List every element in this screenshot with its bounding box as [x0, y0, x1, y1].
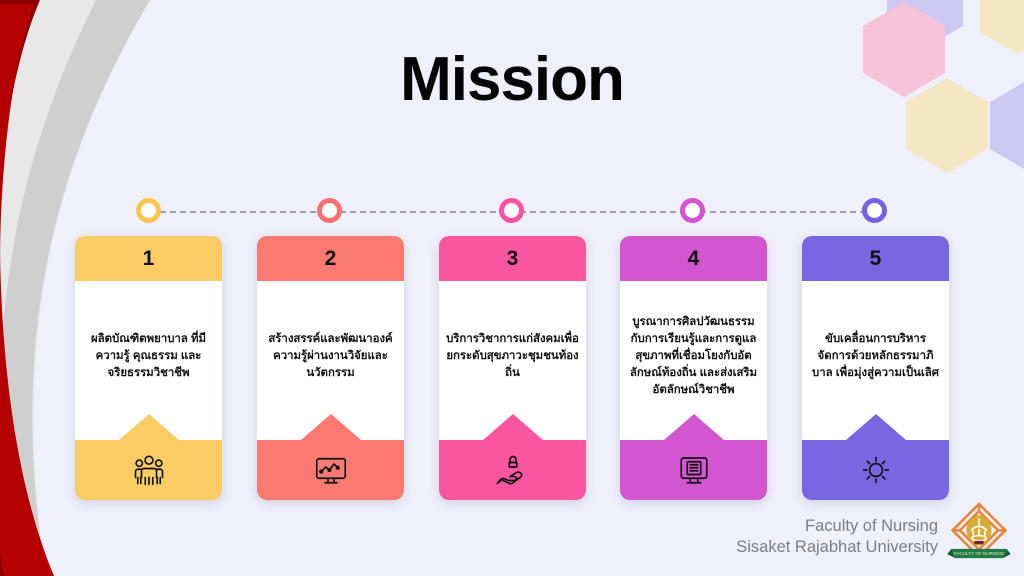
card-5-footer [802, 440, 949, 500]
timeline-dot-5[interactable] [862, 198, 887, 223]
brand-text: Faculty of Nursing Sisaket Rajabhat Univ… [736, 516, 938, 558]
logo-seal-bar [974, 541, 983, 544]
monitor-chart-icon [313, 452, 349, 488]
timeline-dot-1[interactable] [136, 198, 161, 223]
card-3-footer [439, 440, 586, 500]
card-5-text: ขับเคลื่อนการบริหารจัดการด้วยหลักธรรมาภิ… [809, 331, 942, 382]
card-2-text: สร้างสรรค์และพัฒนาองค์ความรู้ผ่านงานวิจั… [264, 331, 397, 382]
brand-line-1: Faculty of Nursing [736, 516, 938, 537]
monitor-document-icon [676, 452, 712, 488]
card-1-notch [119, 414, 179, 440]
mission-card-4[interactable]: 4 บูรณาการศิลปวัฒนธรรมกับการเรียนรู้และก… [620, 236, 767, 500]
slide-title: Mission [0, 44, 1024, 115]
three-people-icon [131, 452, 167, 488]
card-4-number: 4 [620, 236, 767, 281]
card-1-text: ผลิตบัณฑิตพยาบาล ที่มีความรู้ คุณธรรม แล… [82, 331, 215, 382]
card-4-footer [620, 440, 767, 500]
card-1-footer [75, 440, 222, 500]
card-4-notch [664, 414, 724, 440]
gear-icon [858, 452, 894, 488]
logo-ribbon-text: FACULTY OF NURSING [954, 551, 1005, 556]
timeline [0, 198, 1024, 226]
mission-cards: 1 ผลิตบัณฑิตพยาบาล ที่มีความรู้ คุณธรรม … [0, 236, 1024, 500]
card-1-number: 1 [75, 236, 222, 281]
timeline-dot-2[interactable] [317, 198, 342, 223]
mission-card-1[interactable]: 1 ผลิตบัณฑิตพยาบาล ที่มีความรู้ คุณธรรม … [75, 236, 222, 500]
sisaket-rajabhat-nursing-logo: FACULTY OF NURSING [946, 500, 1012, 566]
card-2-notch [301, 414, 361, 440]
mission-card-3[interactable]: 3 บริการวิชาการแก่สังคมเพื่อยกระดับสุขภา… [439, 236, 586, 500]
card-5-notch [846, 414, 906, 440]
card-2-number: 2 [257, 236, 404, 281]
card-5-number: 5 [802, 236, 949, 281]
timeline-dot-3[interactable] [499, 198, 524, 223]
card-3-text: บริการวิชาการแก่สังคมเพื่อยกระดับสุขภาวะ… [446, 331, 579, 382]
card-2-footer [257, 440, 404, 500]
card-3-notch [483, 414, 543, 440]
timeline-dot-4[interactable] [680, 198, 705, 223]
mission-card-5[interactable]: 5 ขับเคลื่อนการบริหารจัดการด้วยหลักธรรมา… [802, 236, 949, 500]
hand-care-icon [495, 452, 531, 488]
card-3-number: 3 [439, 236, 586, 281]
brand-line-2: Sisaket Rajabhat University [736, 537, 938, 558]
mission-card-2[interactable]: 2 สร้างสรรค์และพัฒนาองค์ความรู้ผ่านงานวิ… [257, 236, 404, 500]
card-4-text: บูรณาการศิลปวัฒนธรรมกับการเรียนรู้และการ… [627, 314, 760, 398]
